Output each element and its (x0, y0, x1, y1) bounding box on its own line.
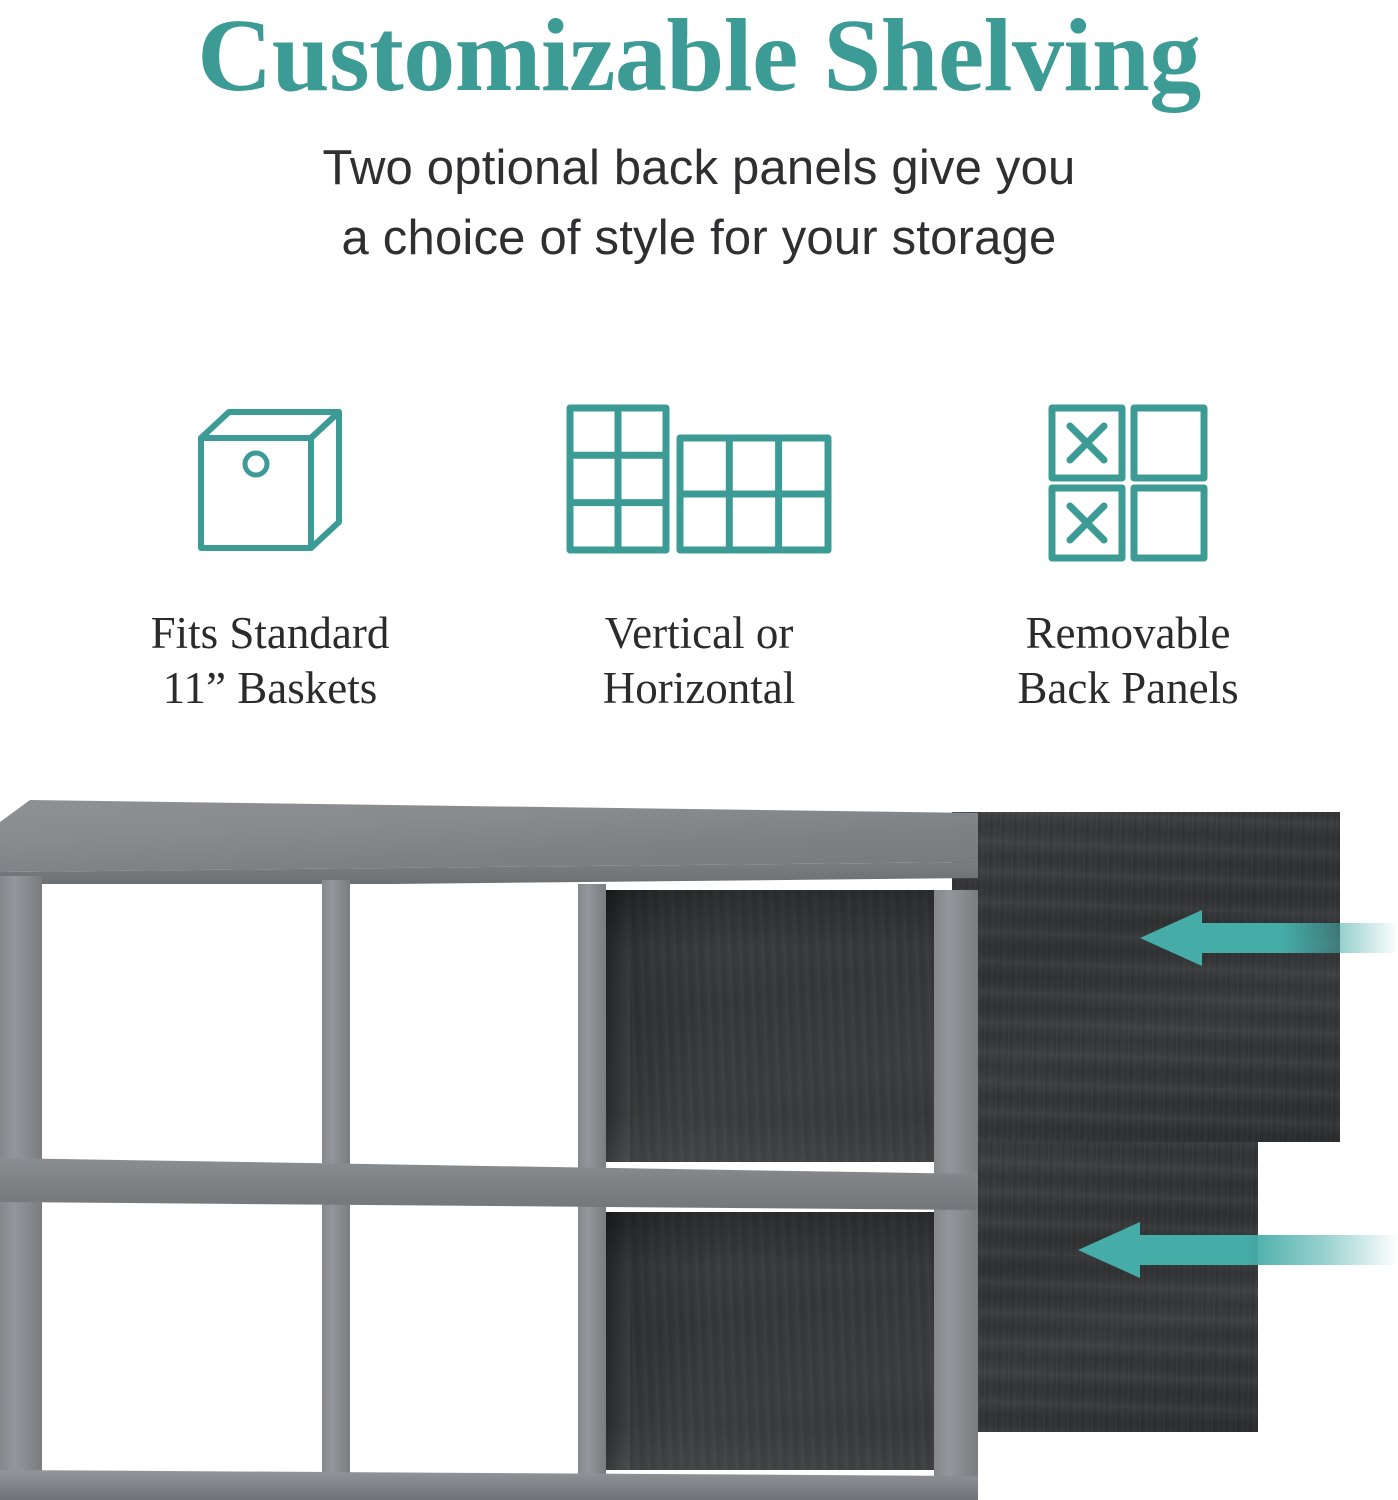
cube-bottom-center (348, 1210, 540, 1470)
feature-fits-standard-baskets: Fits Standard 11” Baskets (60, 392, 480, 716)
feature-label: Removable Back Panels (1017, 606, 1238, 716)
cube-storage-organizer (0, 800, 978, 1500)
upper-back-panel (952, 812, 1340, 1142)
feature-removable-back-panels: Removable Back Panels (918, 392, 1338, 716)
vertical-horizontal-grid-icon (564, 392, 834, 572)
shelf-bottom-board (0, 1470, 978, 1500)
subtitle-line-2: a choice of style for your storage (0, 204, 1398, 274)
removable-back-panels-icon (1046, 392, 1211, 572)
page-subtitle: Two optional back panels give you a choi… (0, 108, 1398, 273)
feature-label: Fits Standard 11” Baskets (151, 606, 390, 716)
feature-vertical-or-horizontal: Vertical or Horizontal (489, 392, 909, 716)
feature-label: Vertical or Horizontal (603, 606, 795, 716)
header: Customizable Shelving Two optional back … (0, 0, 1398, 273)
shelf-body (0, 872, 978, 1500)
subtitle-line-1: Two optional back panels give you (0, 134, 1398, 204)
lower-back-panel (952, 1142, 1258, 1432)
storage-basket-icon (185, 392, 355, 572)
cube-top-center (348, 888, 580, 1160)
cube-bottom-right (604, 1212, 934, 1470)
page-title: Customizable Shelving (0, 0, 1398, 108)
cube-bottom-left (40, 1208, 322, 1470)
shelf-middle-board (0, 1158, 978, 1210)
cube-top-right (604, 890, 934, 1162)
cube-interior-shading (604, 890, 934, 1162)
cube-interior-shading (604, 1212, 934, 1470)
feature-list: Fits Standard 11” Baskets Vertical or Ho… (0, 392, 1398, 716)
product-photo (0, 760, 1398, 1500)
cube-top-left (40, 886, 322, 1158)
